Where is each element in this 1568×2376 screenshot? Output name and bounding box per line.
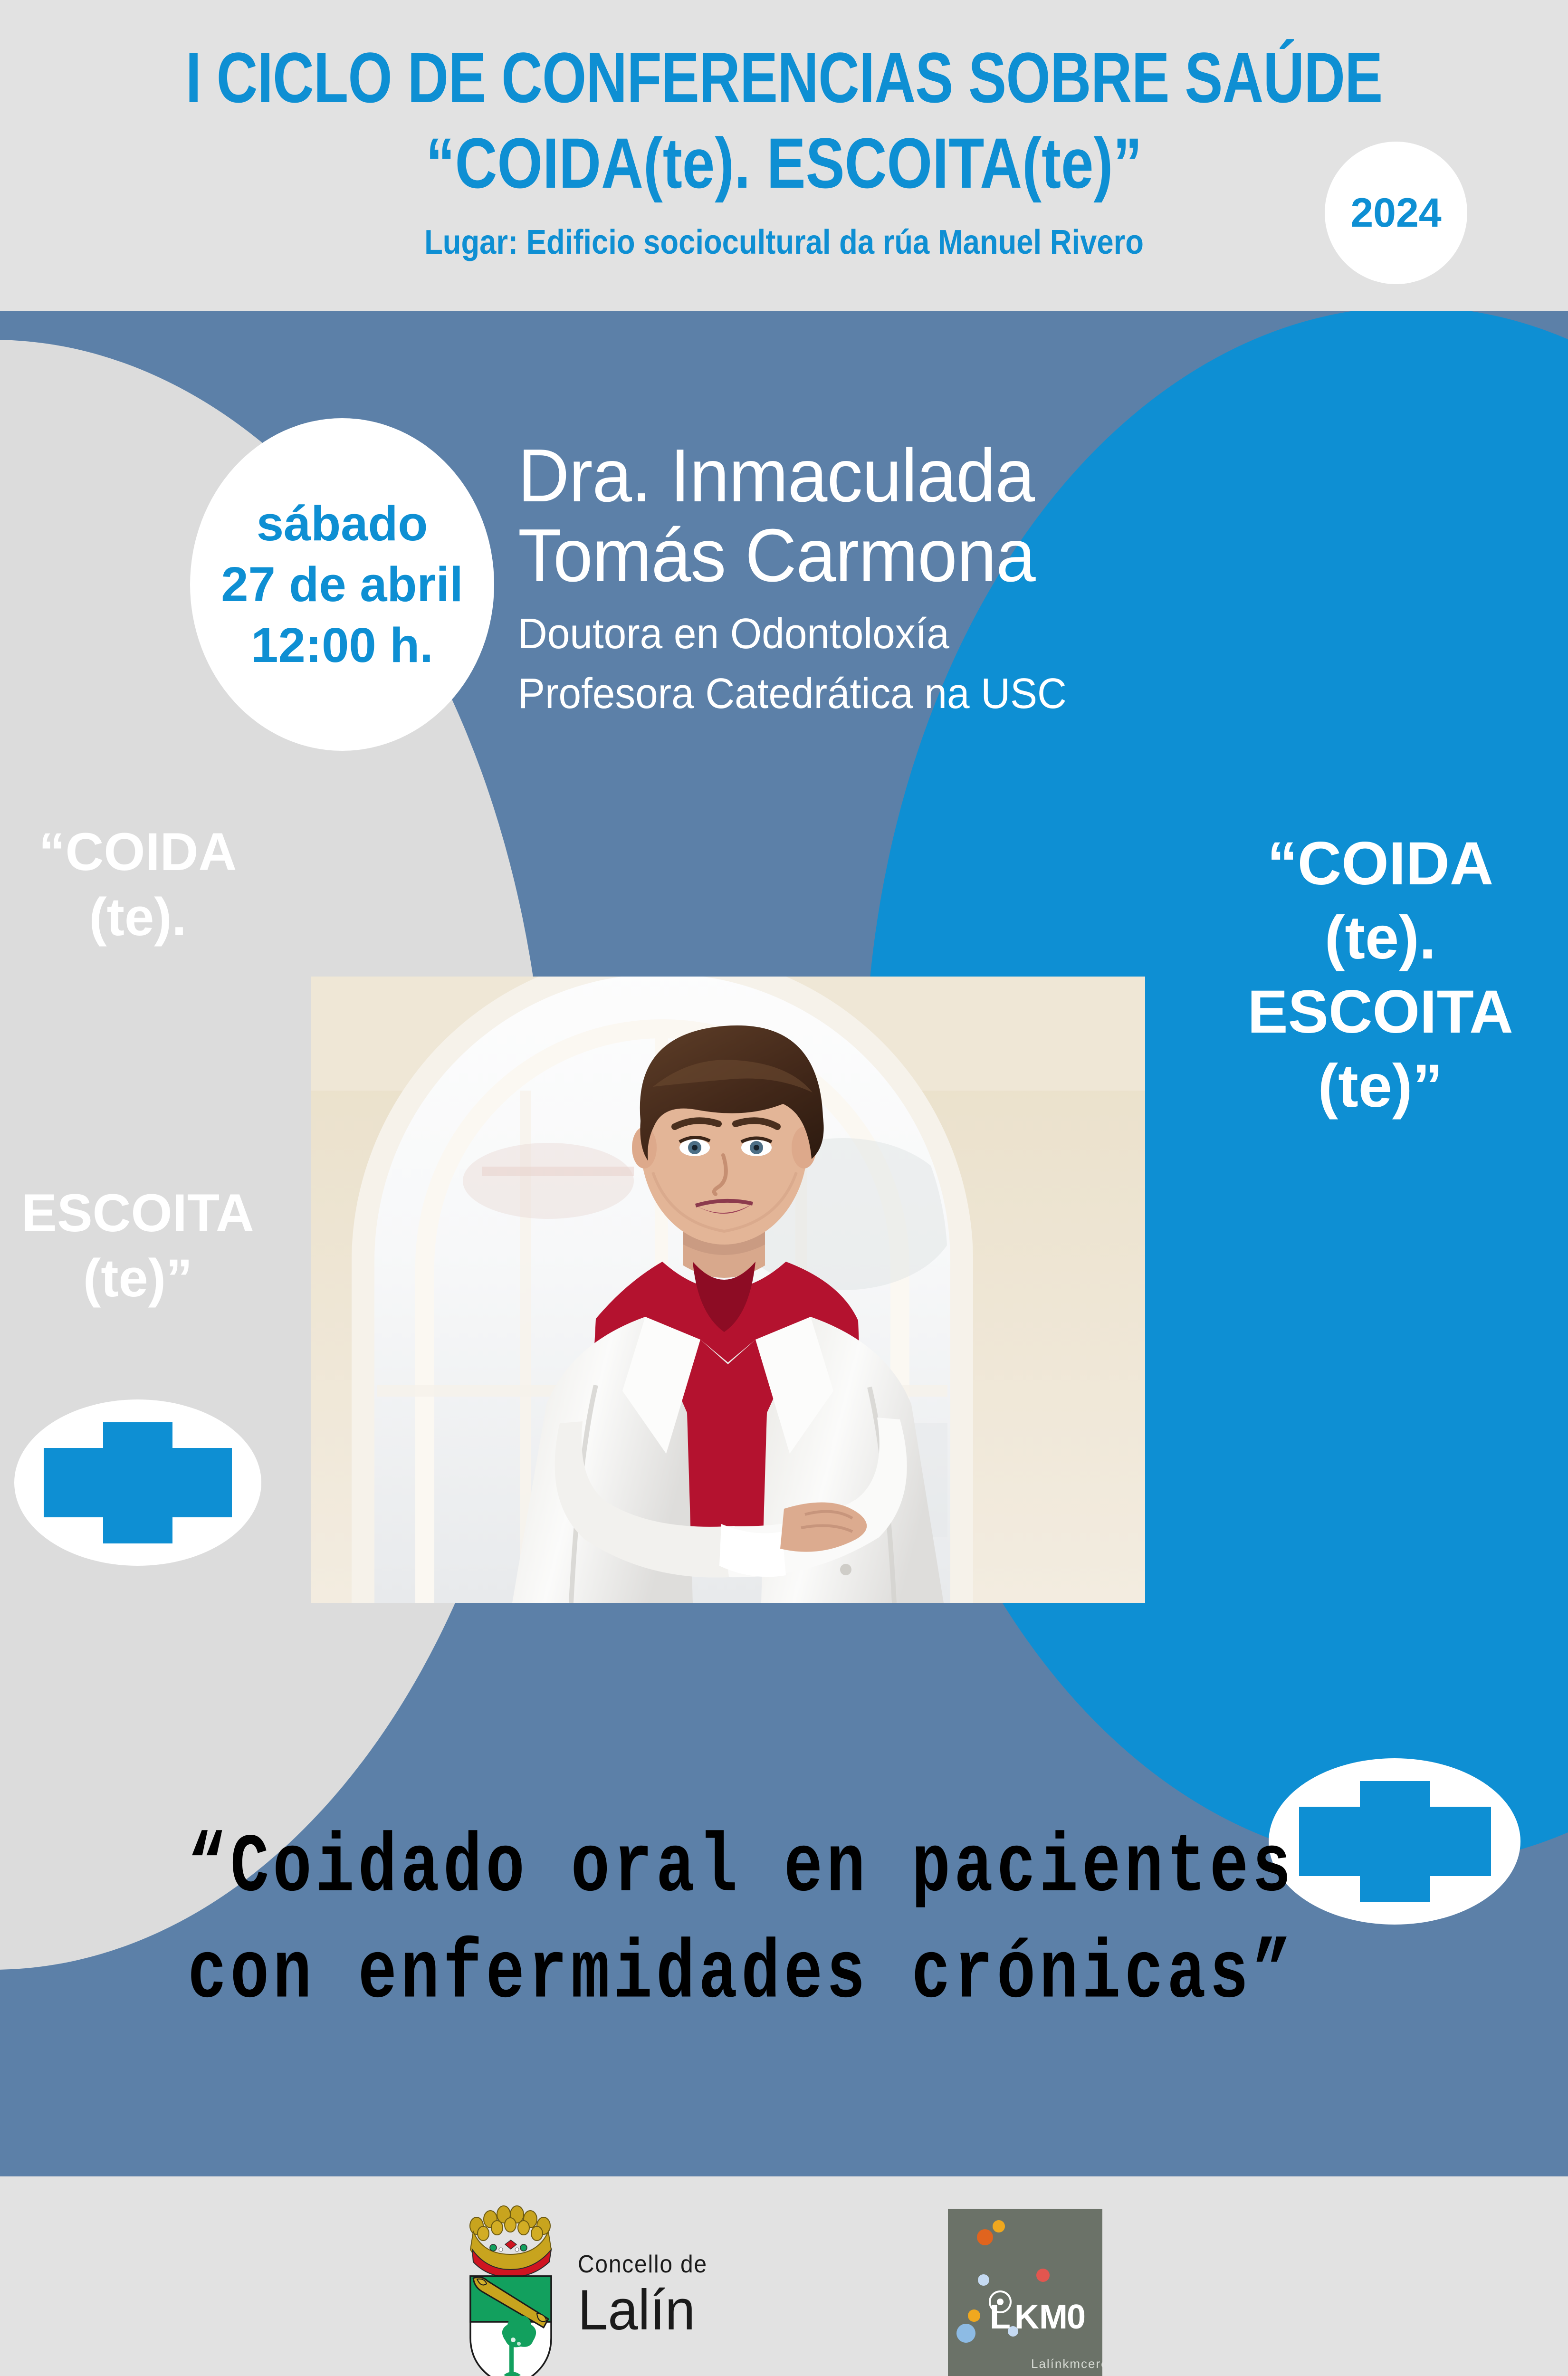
- svg-text:K: K: [1014, 2298, 1042, 2336]
- slogan-right-line2: (te).: [1197, 901, 1563, 975]
- event-time: 12:00 h.: [251, 615, 433, 676]
- speaker-name-line1: Dra. Inmaculada: [518, 436, 1285, 516]
- event-date-badge: sábado 27 de abril 12:00 h.: [190, 418, 494, 751]
- slogan-left-lower-line2: (te)”: [0, 1246, 280, 1311]
- talk-title: “Coidado oral en pacientes con enfermida…: [0, 1815, 1482, 2028]
- lalin-coat-of-arms-icon: [456, 2200, 565, 2376]
- slogan-left-lower-line1: ESCOITA: [0, 1181, 280, 1246]
- speaker-name-line2: Tomás Carmona: [518, 516, 1285, 595]
- event-date: 27 de abril: [221, 554, 463, 615]
- speaker-block: Dra. Inmaculada Tomás Carmona Doutora en…: [518, 436, 1326, 724]
- slogan-left-upper-line2: (te).: [0, 885, 280, 950]
- header-title-line1: I CICLO DE CONFERENCIAS SOBRE SAÚDE: [157, 42, 1411, 113]
- year-badge-label: 2024: [1350, 192, 1441, 233]
- lalin-wordmark-line1: Concello de: [578, 2252, 708, 2277]
- lalin-wordmark-line2: Lalín: [578, 2281, 712, 2338]
- header-venue-line: Lugar: Edificio sociocultural da rúa Man…: [94, 223, 1474, 261]
- event-weekday: sábado: [257, 493, 428, 554]
- slogan-left-lower: ESCOITA (te)”: [0, 1181, 280, 1311]
- speaker-photo: [311, 977, 1145, 1603]
- lalinkmcero-logo: L K M 0 Lalínkmcero: [948, 2209, 1102, 2376]
- svg-text:M: M: [1039, 2298, 1071, 2336]
- talk-title-line2: con enfermidades crónicas”: [0, 1922, 1482, 2028]
- cross-horizontal-bar: [44, 1448, 232, 1517]
- slogan-right-line3: ESCOITA: [1197, 975, 1563, 1049]
- lalin-wordmark: Concello de Lalín: [578, 2252, 719, 2338]
- poster-body: sábado 27 de abril 12:00 h. Dra. Inmacul…: [0, 311, 1568, 2176]
- slogan-right: “COIDA (te). ESCOITA (te)”: [1197, 827, 1563, 1124]
- slogan-right-line1: “COIDA: [1197, 827, 1563, 901]
- talk-title-line1: “Coidado oral en pacientes: [0, 1815, 1482, 1922]
- svg-text:L: L: [990, 2298, 1013, 2336]
- svg-text:0: 0: [1067, 2298, 1089, 2336]
- poster-footer: Concello de Lalín L K: [0, 2176, 1568, 2376]
- lkm-wordmark-text: Lalínkmcero: [1031, 2357, 1102, 2371]
- slogan-right-line4: (te)”: [1197, 1049, 1563, 1123]
- slogan-left-upper: “COIDA (te).: [0, 820, 280, 949]
- poster-header: I CICLO DE CONFERENCIAS SOBRE SAÚDE “COI…: [0, 0, 1568, 311]
- poster: I CICLO DE CONFERENCIAS SOBRE SAÚDE “COI…: [0, 0, 1568, 2376]
- header-title-line2: “COIDA(te). ESCOITA(te)”: [141, 127, 1427, 199]
- slogan-left-upper-line1: “COIDA: [0, 820, 280, 885]
- year-badge: 2024: [1325, 142, 1467, 284]
- speaker-credential-2: Profesora Catedrática na USC: [518, 664, 1285, 724]
- medical-cross-icon-left: [14, 1399, 261, 1566]
- concello-de-lalin-logo: Concello de Lalín: [456, 2200, 751, 2376]
- speaker-credential-1: Doutora en Odontoloxía: [518, 604, 1285, 664]
